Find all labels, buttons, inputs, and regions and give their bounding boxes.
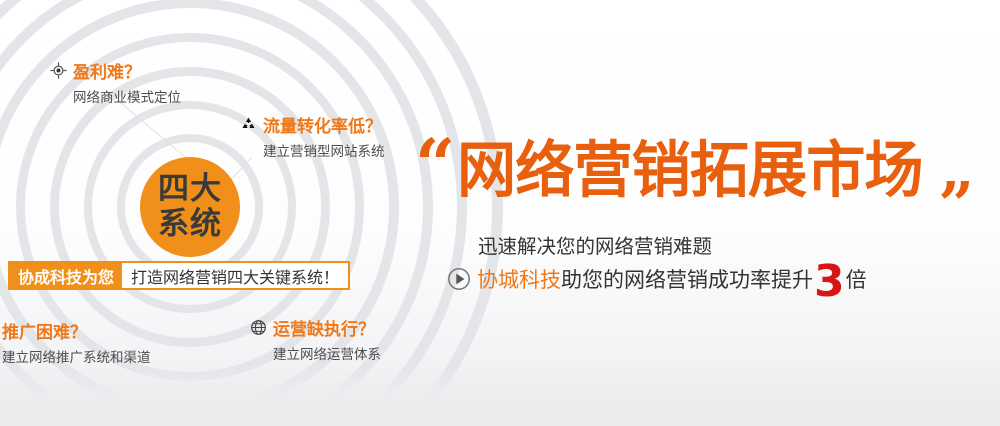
core-badge-line-2: 系统 xyxy=(158,209,222,240)
core-badge: 四大 系统 xyxy=(140,157,240,257)
sub-line-2: 协城科技 助您的网络营销成功率提升 3 倍 xyxy=(447,261,1000,296)
core-badge-line-1: 四大 xyxy=(158,174,222,205)
feature-operate-title: 运营缺执行？ xyxy=(273,315,375,340)
marketing-banner: 四大 系统 盈利难？ 网络商业模式定位 xyxy=(0,0,1000,426)
crosshair-target-icon xyxy=(50,62,67,79)
headline-block: “ 网络营销拓展市场 ” 迅速解决您的网络营销难题 协城科技 助您的网络营销成功… xyxy=(415,140,1000,296)
feature-promote-title: 推广困难？ xyxy=(2,318,87,343)
sub-line-1: 迅速解决您的网络营销难题 xyxy=(478,230,1000,259)
feature-traffic: 流量转化率低？ 建立营销型网站系统 xyxy=(240,112,385,160)
quote-open-icon: “ xyxy=(415,140,455,190)
multiplier-unit: 倍 xyxy=(846,264,867,294)
feature-traffic-head: 流量转化率低？ xyxy=(240,112,385,137)
sub-lines: 迅速解决您的网络营销难题 协城科技 助您的网络营销成功率提升 3 倍 xyxy=(415,230,1000,296)
feature-promote-head: 推广困难？ xyxy=(2,318,151,343)
slogan-bar: 协成科技为您 打造网络营销四大关键系统！ xyxy=(8,261,350,290)
feature-profit-title: 盈利难？ xyxy=(73,58,141,83)
feature-promote-subtitle: 建立网络推广系统和渠道 xyxy=(2,346,151,366)
feature-profit-subtitle: 网络商业模式定位 xyxy=(73,86,181,106)
feature-operate: 运营缺执行？ 建立网络运营体系 xyxy=(250,315,381,363)
page-title: 网络营销拓展市场 xyxy=(457,140,923,201)
headline-row: “ 网络营销拓展市场 ” xyxy=(415,140,1000,222)
feature-profit: 盈利难？ 网络商业模式定位 xyxy=(50,58,181,106)
recycle-icon xyxy=(240,116,257,133)
feature-operate-head: 运营缺执行？ xyxy=(250,315,381,340)
quote-close-icon: ” xyxy=(938,188,974,222)
bottom-fade xyxy=(0,364,1000,426)
brand-name: 协城科技 xyxy=(477,264,561,294)
feature-promote: 推广困难？ 建立网络推广系统和渠道 xyxy=(2,318,151,366)
feature-profit-head: 盈利难？ xyxy=(50,58,181,83)
slogan-bar-brand: 协成科技为您 xyxy=(10,263,122,288)
play-circle-icon xyxy=(447,267,471,291)
globe-icon xyxy=(250,319,267,336)
multiplier-number: 3 xyxy=(814,264,845,299)
slogan-bar-message: 打造网络营销四大关键系统！ xyxy=(122,263,348,288)
feature-operate-subtitle: 建立网络运营体系 xyxy=(273,343,381,363)
feature-traffic-subtitle: 建立营销型网站系统 xyxy=(263,140,385,160)
sub-line-2-middle: 助您的网络营销成功率提升 xyxy=(561,264,813,294)
feature-traffic-title: 流量转化率低？ xyxy=(263,112,382,137)
